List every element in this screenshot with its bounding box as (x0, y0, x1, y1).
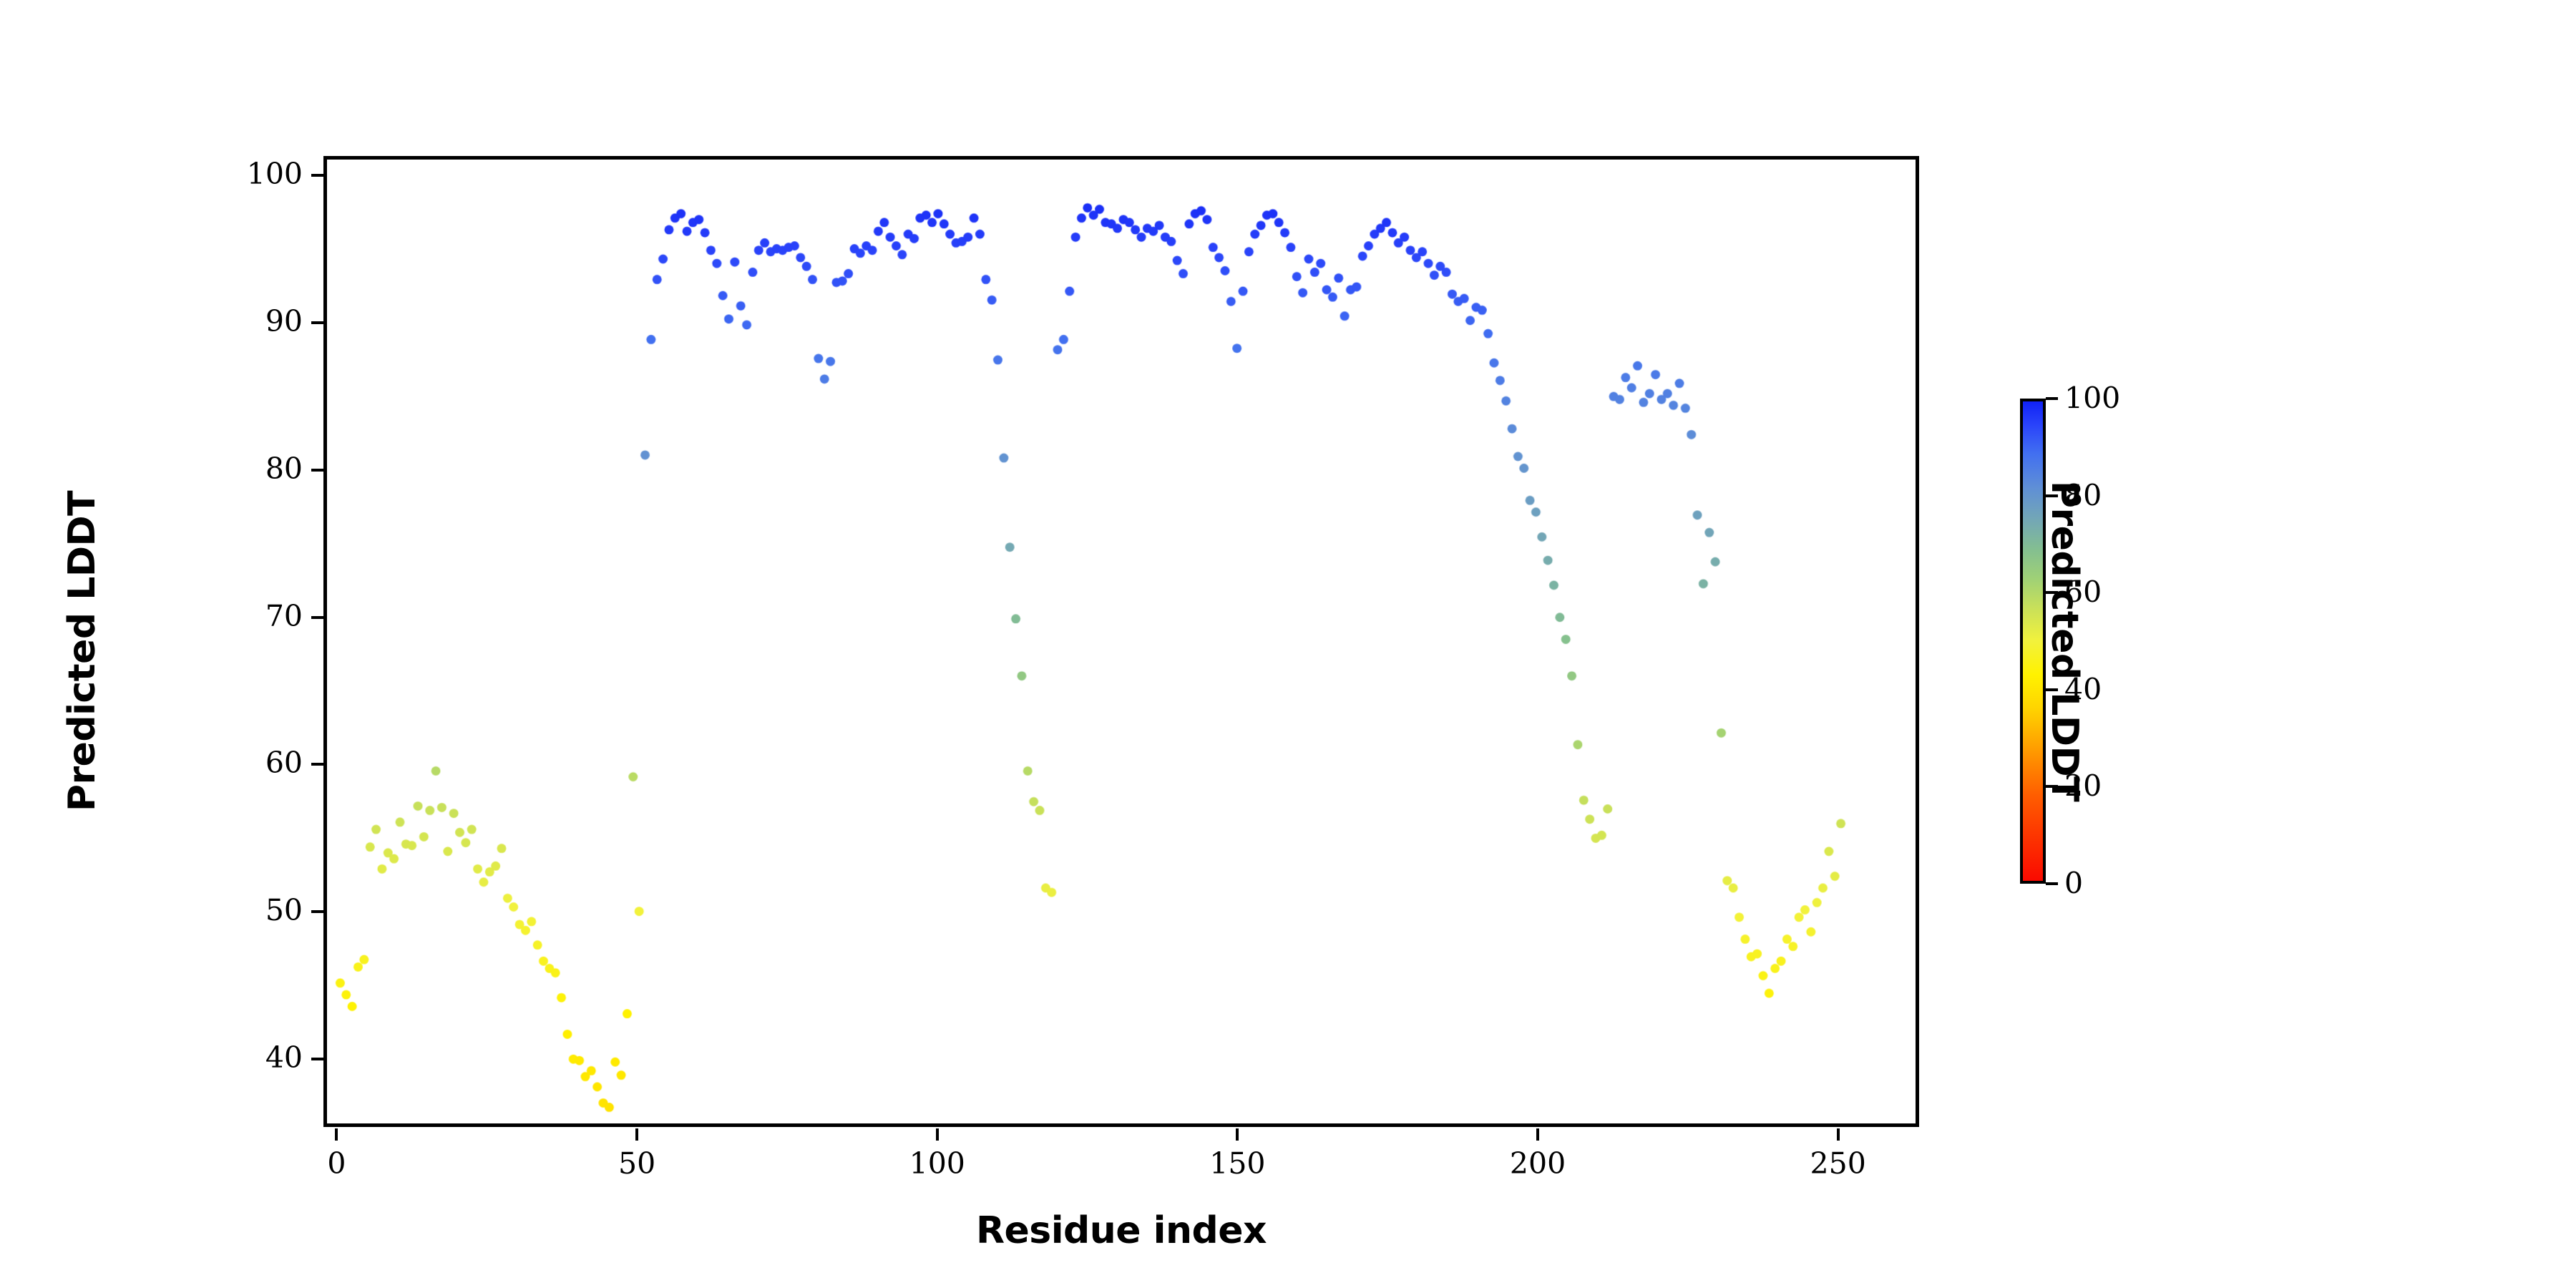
colorbar-tick-mark (2046, 397, 2058, 400)
x-axis-label: Residue index (323, 1209, 1919, 1252)
y-tick-mark (311, 616, 323, 619)
y-tick-mark (311, 321, 323, 324)
y-tick-label: 100 (247, 160, 303, 189)
y-tick-mark (311, 763, 323, 766)
x-tick-mark (1837, 1128, 1840, 1141)
y-tick-label: 40 (265, 1043, 303, 1073)
y-tick-label: 90 (265, 307, 303, 336)
x-tick-mark (1536, 1128, 1539, 1141)
x-tick-mark (1236, 1128, 1239, 1141)
y-tick-mark (311, 469, 323, 472)
y-tick-label: 80 (265, 454, 303, 484)
y-tick-mark (311, 174, 323, 177)
x-tick-label: 250 (1810, 1149, 1866, 1179)
y-tick-mark (311, 1058, 323, 1060)
y-tick-label: 50 (265, 896, 303, 925)
colorbar: 020406080100 (2020, 399, 2046, 884)
x-tick-mark (335, 1128, 338, 1141)
x-tick-label: 50 (618, 1149, 655, 1179)
figure-canvas: 405060708090100 050100150200250 Residue … (0, 0, 2576, 1288)
colorbar-tick-mark (2046, 882, 2058, 885)
y-tick-mark (311, 910, 323, 913)
x-tick-mark (936, 1128, 939, 1141)
x-tick-mark (635, 1128, 638, 1141)
x-tick-label: 200 (1510, 1149, 1566, 1179)
colorbar-gradient (2020, 399, 2046, 884)
x-tick-label: 0 (327, 1149, 346, 1179)
plot-axes (323, 156, 1919, 1127)
colorbar-label: Predicted LDDT (2043, 401, 2086, 882)
x-tick-label: 150 (1209, 1149, 1265, 1179)
x-tick-label: 100 (909, 1149, 965, 1179)
y-tick-label: 70 (265, 602, 303, 631)
scatter-plot-area[interactable] (327, 160, 1916, 1123)
y-axis-label: Predicted LDDT (61, 401, 104, 902)
y-tick-label: 60 (265, 748, 303, 778)
